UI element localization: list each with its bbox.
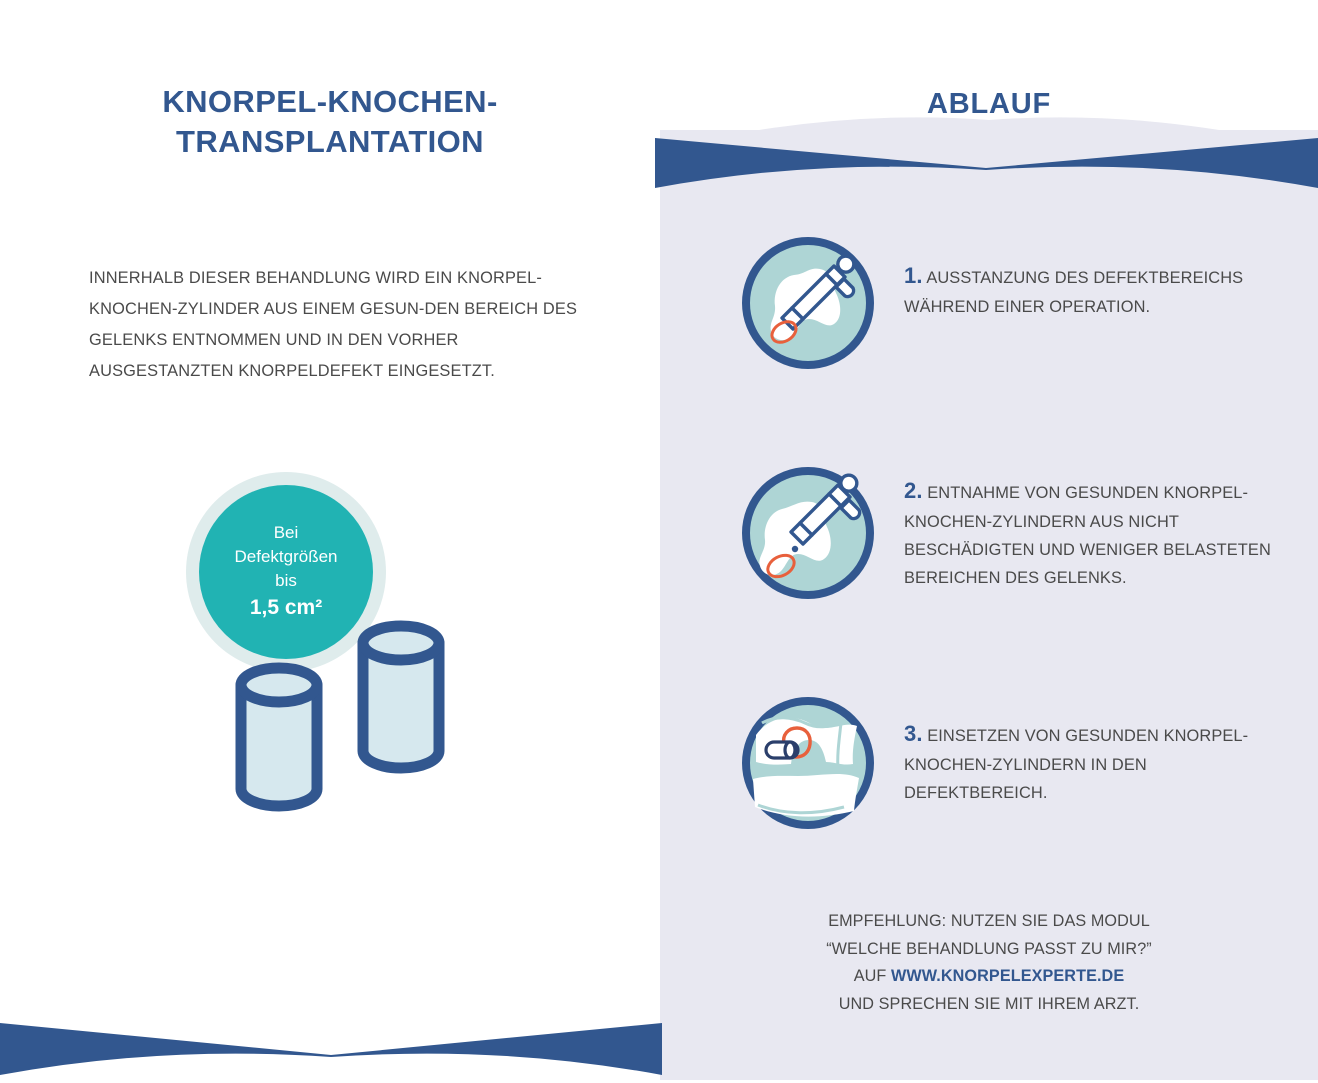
- harvest-bone-icon: [738, 463, 878, 603]
- page-title: KNORPEL-KNOCHEN- TRANSPLANTATION: [60, 82, 600, 161]
- footer-line-4: UND SPRECHEN SIE MIT IHREM ARZT.: [660, 991, 1318, 1019]
- page-title-line-2: TRANSPLANTATION: [60, 122, 600, 162]
- process-step-1-number: 1.: [904, 263, 923, 288]
- process-step-1-body: AUSSTANZUNG DES DEFEKTBEREICHS WÄHREND E…: [904, 269, 1243, 316]
- cylinder-plug-icon: [766, 742, 798, 758]
- knee-joint-plug-icon: [738, 693, 878, 833]
- process-step-3-text: 3. EINSETZEN VON GESUNDEN KNORPEL-KNOCHE…: [904, 693, 1284, 808]
- process-step-2-body: ENTNAHME VON GESUNDEN KNORPEL-KNOCHEN-ZY…: [904, 484, 1271, 587]
- process-step-2-number: 2.: [904, 478, 923, 503]
- footer-line-3: AUF WWW.KNORPELEXPERTE.DE: [660, 963, 1318, 991]
- cylinder-front: [241, 668, 317, 806]
- footer-line-3-prefix: AUF: [854, 967, 891, 985]
- page-title-line-1: KNORPEL-KNOCHEN-: [60, 82, 600, 122]
- intro-paragraph: INNERHALB DIESER BEHANDLUNG WIRD EIN KNO…: [89, 263, 589, 386]
- website-link[interactable]: WWW.KNORPELEXPERTE.DE: [891, 967, 1124, 985]
- badge-line-2: Defektgrößen: [235, 545, 338, 569]
- recommendation-footer: EMPFEHLUNG: NUTZEN SIE DAS MODUL “WELCHE…: [660, 908, 1318, 1018]
- process-step-2: 2. ENTNAHME VON GESUNDEN KNORPEL-KNOCHEN…: [738, 463, 1298, 603]
- badge-line-1: Bei: [274, 521, 299, 545]
- process-step-1-text: 1. AUSSTANZUNG DES DEFEKTBEREICHS WÄHREN…: [904, 233, 1284, 322]
- punch-bone-icon: [738, 233, 878, 373]
- bone-cylinders-illustration: [230, 610, 505, 825]
- process-step-3-number: 3.: [904, 721, 923, 746]
- process-step-2-text: 2. ENTNAHME VON GESUNDEN KNORPEL-KNOCHEN…: [904, 463, 1284, 593]
- badge-line-3: bis: [275, 569, 297, 593]
- footer-line-2: “WELCHE BEHANDLUNG PASST ZU MIR?”: [660, 936, 1318, 964]
- footer-line-1: EMPFEHLUNG: NUTZEN SIE DAS MODUL: [660, 908, 1318, 936]
- process-step-1: 1. AUSSTANZUNG DES DEFEKTBEREICHS WÄHREN…: [738, 233, 1298, 373]
- cylinder-back: [363, 626, 439, 768]
- left-column: KNORPEL-KNOCHEN- TRANSPLANTATION INNERHA…: [0, 0, 660, 1080]
- process-step-3: 3. EINSETZEN VON GESUNDEN KNORPEL-KNOCHE…: [738, 693, 1298, 833]
- punch-tip-dot-icon: [792, 546, 798, 552]
- process-step-3-body: EINSETZEN VON GESUNDEN KNORPEL-KNOCHEN-Z…: [904, 727, 1248, 802]
